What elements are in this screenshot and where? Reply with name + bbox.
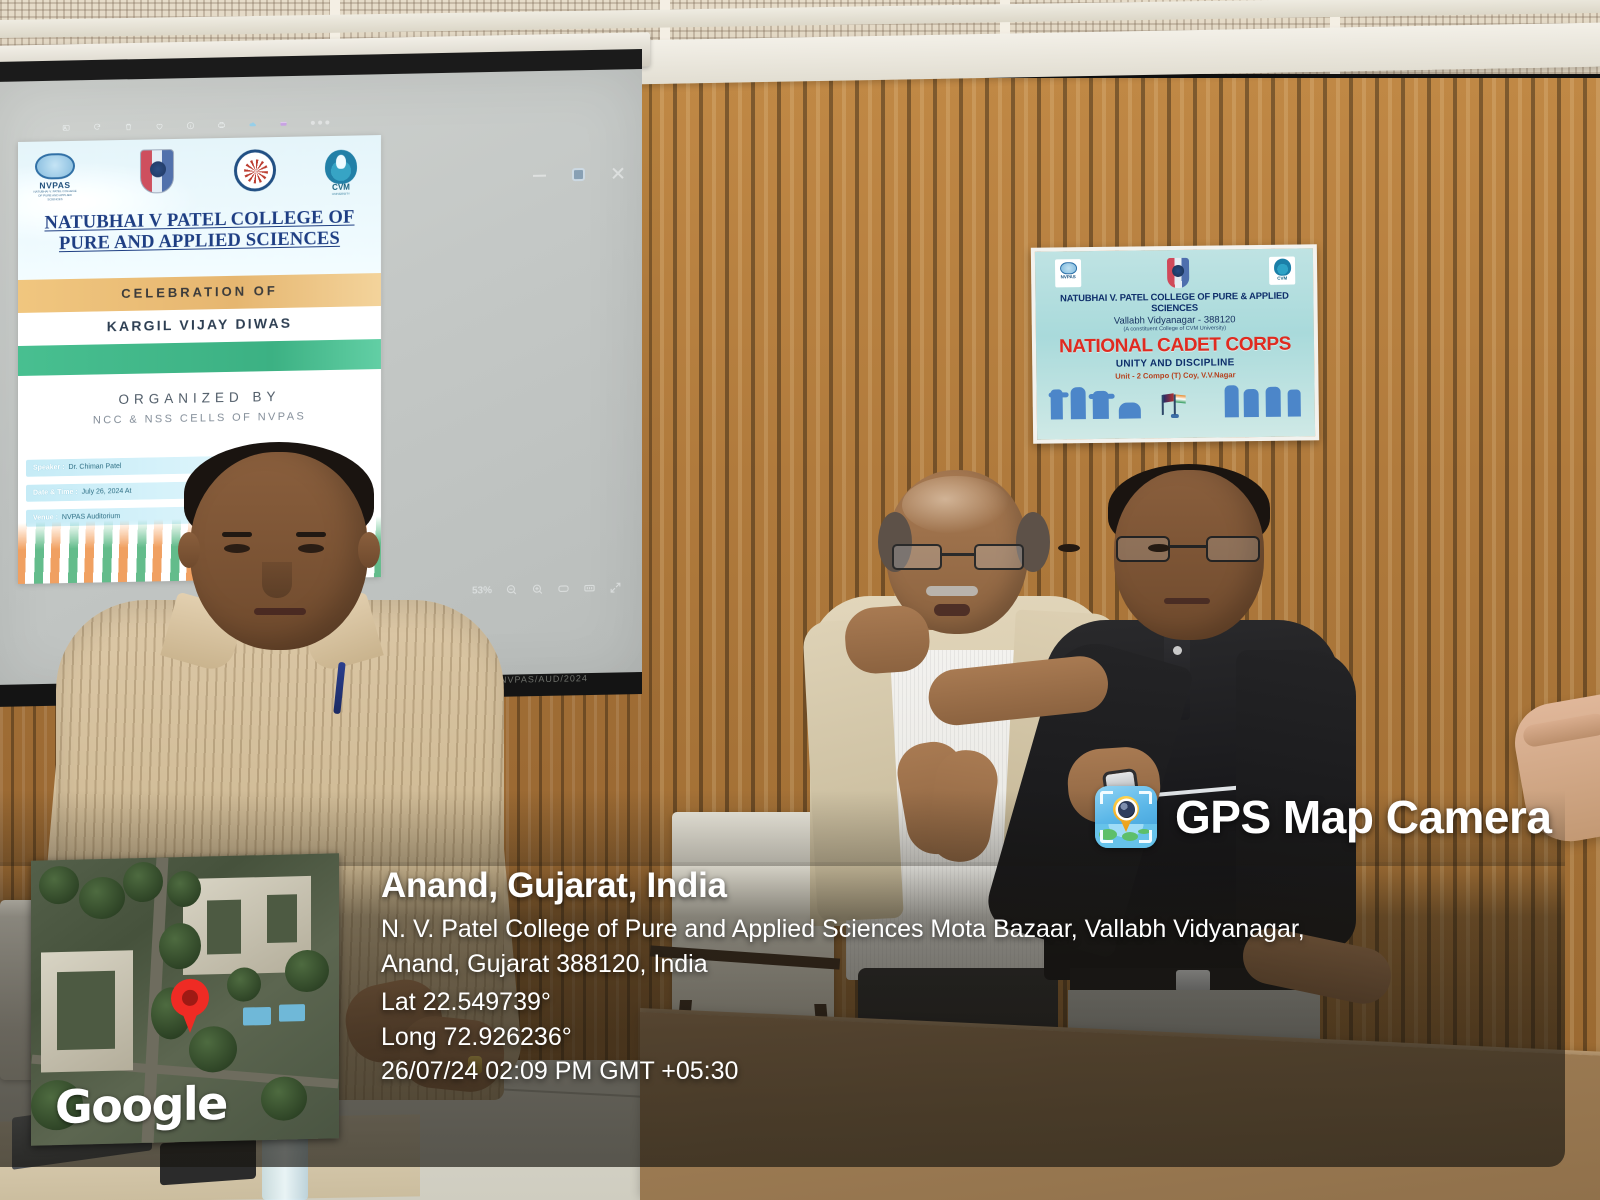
more-options-icon[interactable]: ••• [310, 114, 332, 131]
gps-map-camera-icon [1095, 786, 1157, 848]
edit-image-icon[interactable] [62, 119, 71, 136]
zoom-in-icon[interactable] [531, 582, 544, 596]
banner-unit: Unit - 2 Compo (T) Coy, V.V.Nagar [1044, 369, 1306, 381]
delete-icon[interactable] [124, 118, 133, 135]
banner-motto: UNITY AND DISCIPLINE [1044, 356, 1306, 370]
fit-to-window-icon[interactable] [557, 582, 570, 596]
location-address-line1: N. V. Patel College of Pure and Applied … [381, 912, 1521, 947]
ncc-crest-logo [1167, 258, 1189, 288]
close-button[interactable] [611, 167, 624, 180]
maximize-button[interactable] [572, 167, 585, 180]
eyeglasses [888, 544, 1028, 570]
banner-college-name: NATUBHAI V. PATEL COLLEGE OF PURE & APPL… [1043, 289, 1305, 314]
favorite-heart-icon[interactable] [155, 117, 164, 134]
fullscreen-icon[interactable] [609, 581, 622, 595]
window-controls[interactable] [533, 161, 629, 187]
ncc-banner: NVPAS CVM NATUBHAI V. PATEL COLLEGE OF P… [1031, 244, 1319, 443]
gallery-icon[interactable] [279, 115, 288, 132]
onedrive-icon[interactable] [248, 115, 257, 132]
moustache [926, 586, 978, 596]
gps-map-camera-watermark: GPS Map Camera [1095, 786, 1551, 848]
timestamp-value: 26/07/24 02:09 PM GMT +05:30 [381, 1054, 1521, 1089]
actual-size-icon[interactable] [583, 581, 596, 595]
screen-label: NVPAS/AUD/2024 [500, 673, 588, 685]
latitude-value: Lat 22.549739° [381, 985, 1521, 1020]
hand-on-shoulder [843, 604, 931, 676]
nvpas-logo: NVPAS [1055, 259, 1081, 287]
google-attribution: Google [55, 1076, 227, 1134]
location-address-line2: Anand, Gujarat 388120, India [381, 947, 1521, 982]
slide-title: NATUBHAI V PATEL COLLEGE OF PURE AND APP… [28, 207, 371, 255]
print-icon[interactable] [217, 116, 226, 133]
info-icon[interactable] [186, 117, 195, 134]
banner-logo-row: NVPAS CVM [1043, 254, 1305, 291]
flags-graphic [1168, 392, 1182, 418]
minimize-button[interactable] [533, 168, 546, 181]
ncc-crest-logo [140, 149, 174, 194]
banner-headline: NATIONAL CADET CORPS [1044, 333, 1306, 358]
nvpas-logo: NVPAS NATUBHAI V. PATEL COLLEGE OF PURE … [32, 153, 78, 203]
slide-logo-row: NVPAS NATUBHAI V. PATEL COLLEGE OF PURE … [18, 143, 381, 212]
face [190, 452, 368, 650]
rotate-icon[interactable] [93, 118, 102, 135]
longitude-value: Long 72.926236° [381, 1020, 1521, 1055]
gps-app-title: GPS Map Camera [1175, 790, 1551, 844]
eyeglasses [1114, 536, 1264, 562]
location-place: Anand, Gujarat, India [381, 866, 1521, 906]
cvm-logo: CVM [1269, 257, 1295, 285]
cvm-university-logo: CVM UNIVERSITY [318, 149, 364, 196]
gps-map-camera-photo: ••• NVPAS NATUBHAI V. PATEL COLLEGE OF P… [0, 0, 1600, 1200]
nss-wheel-logo [234, 149, 276, 192]
cadet-silhouettes [1044, 380, 1306, 421]
gps-info-text: Anand, Gujarat, India N. V. Patel Colleg… [381, 866, 1521, 1089]
